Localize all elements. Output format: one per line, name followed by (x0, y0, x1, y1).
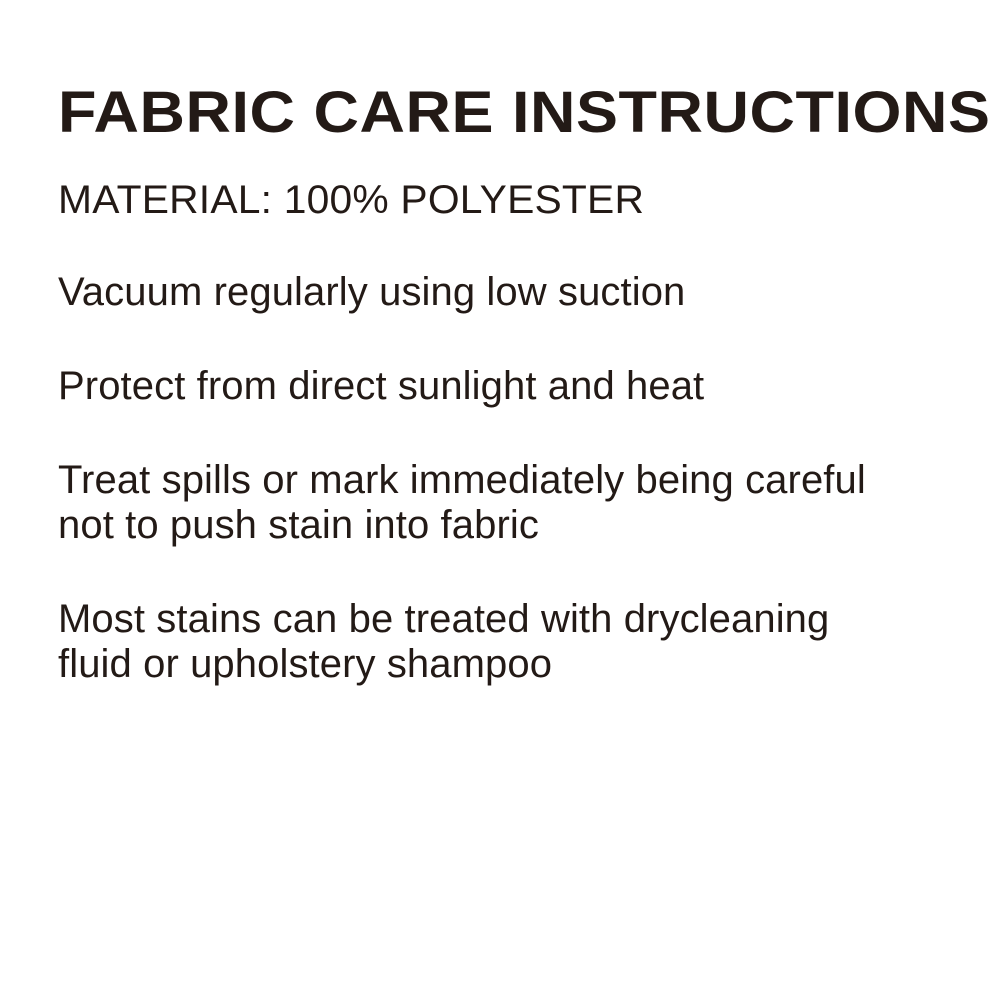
material-composition-line: MATERIAL: 100% POLYESTER (58, 178, 976, 222)
care-instruction-item: Vacuum regularly using low suction (58, 270, 918, 315)
care-instruction-line: not to push stain into fabric (58, 503, 918, 548)
fabric-care-label: FABRIC CARE INSTRUCTIONS MATERIAL: 100% … (0, 0, 1000, 1000)
care-instruction-line: fluid or upholstery shampoo (58, 642, 918, 687)
care-instruction-line: Treat spills or mark immediately being c… (58, 458, 918, 503)
care-instruction-item: Most stains can be treated with dryclean… (58, 597, 918, 687)
label-content: FABRIC CARE INSTRUCTIONS MATERIAL: 100% … (58, 82, 958, 687)
care-instruction-item: Treat spills or mark immediately being c… (58, 458, 918, 548)
care-instruction-line: Most stains can be treated with dryclean… (58, 597, 918, 642)
care-instruction-list: Vacuum regularly using low suctionProtec… (58, 270, 958, 687)
care-instruction-line: Protect from direct sunlight and heat (58, 364, 918, 409)
care-instruction-item: Protect from direct sunlight and heat (58, 364, 918, 409)
care-instruction-line: Vacuum regularly using low suction (58, 270, 918, 315)
page-title: FABRIC CARE INSTRUCTIONS (58, 82, 1000, 144)
